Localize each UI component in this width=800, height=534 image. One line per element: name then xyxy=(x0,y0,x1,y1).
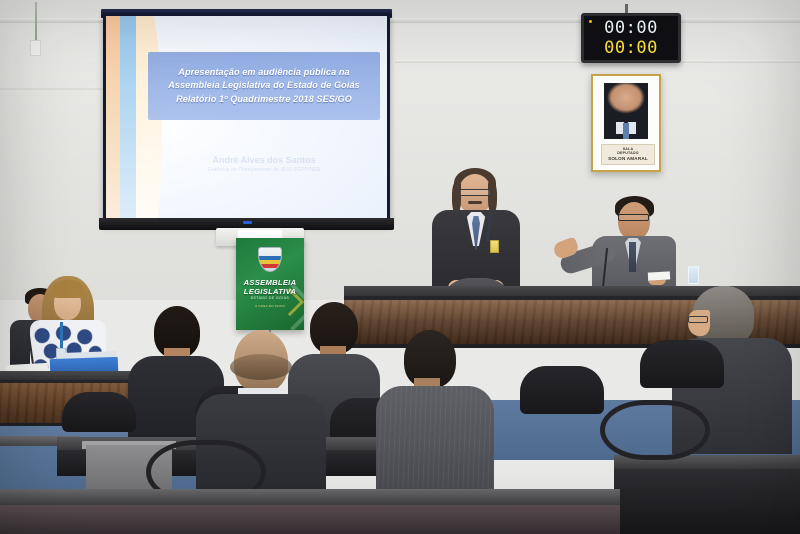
hearing-room-photo: Apresentação em audiência pública na Ass… xyxy=(0,0,800,534)
switch-cord xyxy=(35,2,37,42)
speaker-id-badge xyxy=(490,240,499,253)
power-indicator-icon xyxy=(589,20,592,23)
woman-hair-top xyxy=(52,280,84,298)
banner-line-1: ASSEMBLEIA xyxy=(236,278,304,287)
crest-band-red xyxy=(259,264,281,268)
slide-title-line-3: Relatório 1º Quadrimestre 2018 SES/GO xyxy=(176,93,352,107)
panelist-seated xyxy=(556,196,688,300)
speaker-mustache xyxy=(468,201,482,204)
speaker-glasses-icon xyxy=(459,189,491,196)
clock-bottom-value: 00:00 xyxy=(604,38,658,58)
panelist-tie xyxy=(629,242,636,272)
water-glass xyxy=(688,266,699,284)
audience-member-4 xyxy=(376,330,494,510)
portrait-tie xyxy=(623,123,629,139)
audience-right-face xyxy=(688,310,710,336)
chair-back-left xyxy=(62,392,136,432)
wall-seam xyxy=(0,88,110,90)
slide-canvas: Apresentação em audiência pública na Ass… xyxy=(106,16,387,222)
slide-title-box: Apresentação em audiência pública na Ass… xyxy=(148,52,380,120)
dais-papers xyxy=(648,271,670,280)
front-bench-face xyxy=(0,505,620,534)
projection-screen: Apresentação em audiência pública na Ass… xyxy=(103,13,390,225)
woman-lanyard xyxy=(60,322,63,350)
portrait-photo xyxy=(604,83,648,139)
portrait-nameplate: SALA DEPUTADO SOLON AMARAL xyxy=(601,144,655,165)
banner-line-3: ESTADO DE GOIÁS xyxy=(236,296,304,301)
chair-back-right xyxy=(640,340,724,388)
digital-clock: 00:00 00:00 xyxy=(581,13,681,63)
slide-title-line-1: Apresentação em audiência pública na xyxy=(178,66,349,80)
slide-presenter-role: Gerência de Planejamento do SUS SGPP/SES xyxy=(148,166,380,174)
audience-2-hair-fringe xyxy=(230,354,292,380)
banner-line-2: LEGISLATIVA xyxy=(236,287,304,296)
clock-top-value: 00:00 xyxy=(604,18,658,38)
plaque-line-3: SOLON AMARAL xyxy=(602,156,654,162)
state-crest-icon xyxy=(258,247,282,272)
screen-led-icon xyxy=(243,221,252,224)
right-bench-face xyxy=(614,469,800,534)
portrait-frame: SALA DEPUTADO SOLON AMARAL xyxy=(591,74,661,172)
chair-back-center-right xyxy=(520,366,604,414)
light-switch-icon[interactable] xyxy=(30,40,41,56)
slide-presenter-block: André Alves dos Santos Gerência de Plane… xyxy=(148,154,380,174)
audience-right-glasses-icon xyxy=(688,316,708,323)
chair-rim-right xyxy=(600,400,710,460)
slide-presenter-name: André Alves dos Santos xyxy=(148,154,380,166)
slide-title-line-2: Assembleia Legislativa do Estado de Goiá… xyxy=(168,79,360,93)
panelist-glasses-icon xyxy=(618,214,649,221)
panelist-head xyxy=(618,202,650,240)
